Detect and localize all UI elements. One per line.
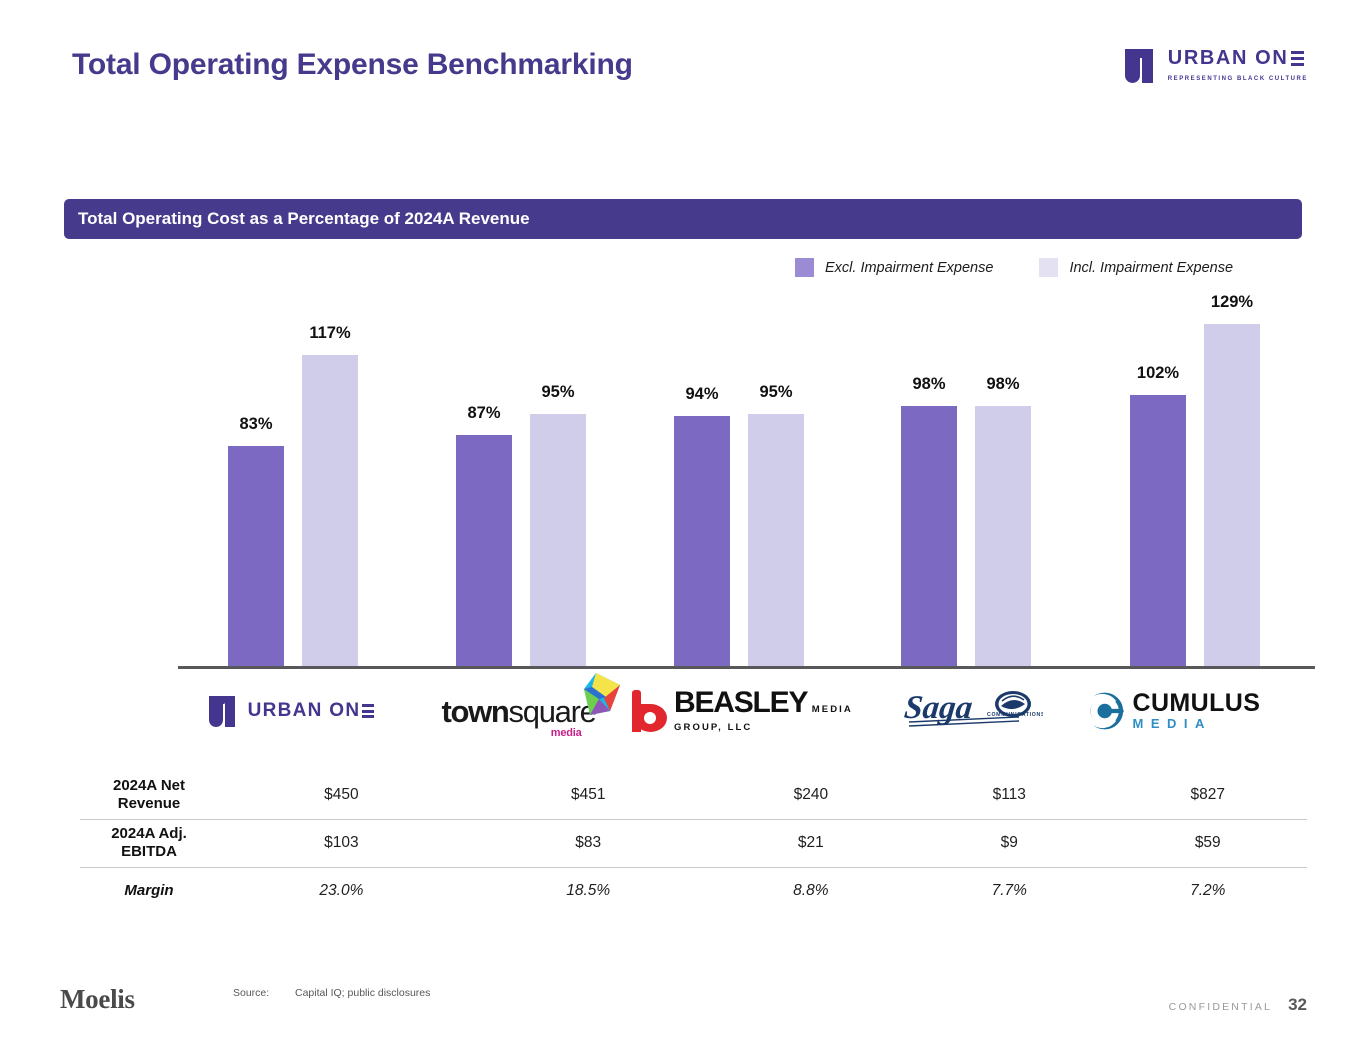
bar-value-label: 95% <box>734 383 818 402</box>
table-cell: 7.7% <box>910 867 1108 915</box>
urban-one-e-glyph-icon <box>362 704 374 718</box>
page-number: 32 <box>1288 995 1307 1015</box>
urban-one-tagline: REPRESENTING BLACK CULTURE <box>1168 76 1308 82</box>
source-label: Source: <box>233 987 295 999</box>
urban-one-wordmark-text: URBAN ON <box>1168 48 1289 68</box>
bar-value-label: 102% <box>1116 364 1200 383</box>
bar-value-label: 95% <box>516 383 600 402</box>
saga-script-icon: Saga COMMUNICATIONS, INC. <box>903 684 1043 738</box>
table-cell: $451 <box>465 771 712 819</box>
bar-value-label: 98% <box>961 375 1045 394</box>
legend-label-excl-impairment: Excl. Impairment Expense <box>825 260 993 276</box>
source-note: Source: Capital IQ; public disclosures <box>233 987 430 999</box>
bar-value-label: 98% <box>887 375 971 394</box>
legend-swatch-excl-impairment <box>795 258 814 277</box>
cumulus-c-mark-icon <box>1086 689 1124 733</box>
bar-excl-5 <box>1130 395 1186 666</box>
table-row: 2024A Adj.EBITDA$103$83$21$9$59 <box>80 819 1307 867</box>
moelis-logo: Moelis <box>60 984 135 1015</box>
bar-excl-4 <box>901 406 957 666</box>
page-title: Total Operating Expense Benchmarking <box>72 48 633 82</box>
table-row-label: 2024A NetRevenue <box>80 771 218 819</box>
table-cell: $83 <box>465 819 712 867</box>
svg-text:COMMUNICATIONS, INC.: COMMUNICATIONS, INC. <box>987 712 1043 718</box>
metrics-table: 2024A NetRevenue$450$451$240$113$8272024… <box>80 771 1307 915</box>
bar-excl-2 <box>456 435 512 666</box>
axis-logo-urban-one: URBAN ON <box>178 676 405 746</box>
bar-excl-1 <box>228 446 284 666</box>
bar-incl-3 <box>748 414 804 666</box>
urban-one-e-glyph-icon <box>1291 51 1304 66</box>
townsquare-prism-icon <box>566 671 622 723</box>
bar-incl-2 <box>530 414 586 666</box>
footer-right: CONFIDENTIAL 32 <box>1169 995 1307 1015</box>
legend-swatch-incl-impairment <box>1039 258 1058 277</box>
bar-excl-3 <box>674 416 730 666</box>
cumulus-sub-label: MEDIA <box>1133 716 1212 731</box>
townsquare-sub-label: media <box>551 727 582 739</box>
townsquare-word-town: town <box>441 694 508 729</box>
bar-incl-5 <box>1204 324 1260 666</box>
chart-baseline-axis <box>178 666 1315 669</box>
bar-value-label: 117% <box>288 324 372 343</box>
table-cell: $59 <box>1109 819 1308 867</box>
axis-logo-beasley-media-group: BEASLEY MEDIA GROUP, LLC <box>632 676 859 746</box>
confidential-label: CONFIDENTIAL <box>1169 1001 1272 1013</box>
urban-one-u1-mark-icon <box>209 696 240 727</box>
beasley-main-label: BEASLEY <box>674 686 807 719</box>
bar-value-label: 87% <box>442 404 526 423</box>
table-cell: $113 <box>910 771 1108 819</box>
table-row: 2024A NetRevenue$450$451$240$113$827 <box>80 771 1307 819</box>
legend-item-excl-impairment: Excl. Impairment Expense <box>795 258 993 277</box>
legend-label-incl-impairment: Incl. Impairment Expense <box>1069 260 1233 276</box>
axis-logo-cumulus-media: CUMULUS MEDIA <box>1086 676 1313 746</box>
section-banner: Total Operating Cost as a Percentage of … <box>64 199 1302 239</box>
axis-logo-townsquare-media: townsquare media <box>405 676 632 746</box>
source-value: Capital IQ; public disclosures <box>295 987 430 999</box>
axis-logo-urban-one-label: URBAN ON <box>248 700 361 722</box>
cumulus-main-label: CUMULUS <box>1133 689 1261 717</box>
urban-one-logo: URBAN ON REPRESENTING BLACK CULTURE <box>1125 48 1308 84</box>
table-cell: $450 <box>218 771 465 819</box>
section-banner-title: Total Operating Cost as a Percentage of … <box>64 209 530 229</box>
table-cell: 18.5% <box>465 867 712 915</box>
table-cell: $9 <box>910 819 1108 867</box>
bar-incl-1 <box>302 355 358 666</box>
bar-value-label: 129% <box>1190 293 1274 312</box>
table-cell: $21 <box>712 819 910 867</box>
metrics-table-body: 2024A NetRevenue$450$451$240$113$8272024… <box>80 771 1307 915</box>
chart-legend: Excl. Impairment Expense Incl. Impairmen… <box>795 258 1233 277</box>
axis-logo-saga-communications: Saga COMMUNICATIONS, INC. <box>859 676 1086 746</box>
table-row-label: 2024A Adj.EBITDA <box>80 819 218 867</box>
table-row-label: Margin <box>80 867 218 915</box>
table-cell: $240 <box>712 771 910 819</box>
bar-value-label: 83% <box>214 415 298 434</box>
table-cell: 7.2% <box>1109 867 1308 915</box>
table-cell: 23.0% <box>218 867 465 915</box>
table-cell: $103 <box>218 819 465 867</box>
table-cell: 8.8% <box>712 867 910 915</box>
bar-value-label: 94% <box>660 385 744 404</box>
table-row: Margin23.0%18.5%8.8%7.7%7.2% <box>80 867 1307 915</box>
urban-one-wordmark: URBAN ON REPRESENTING BLACK CULTURE <box>1168 48 1308 84</box>
beasley-b-mark-icon <box>632 690 669 732</box>
legend-item-incl-impairment: Incl. Impairment Expense <box>1039 258 1233 277</box>
table-cell: $827 <box>1109 771 1308 819</box>
bar-incl-4 <box>975 406 1031 666</box>
urban-one-u1-mark-icon <box>1125 49 1159 83</box>
